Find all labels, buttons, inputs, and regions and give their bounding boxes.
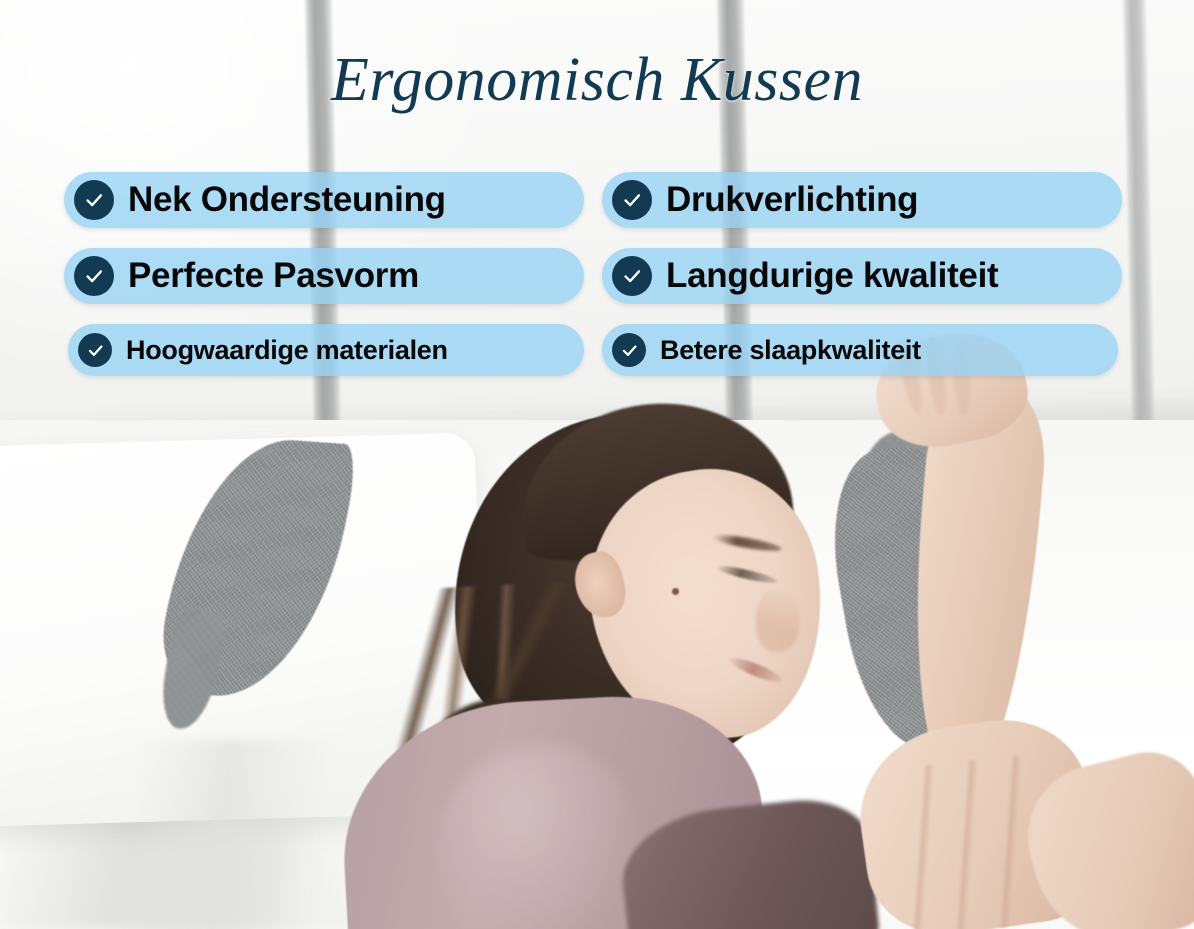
feature-badge-label: Hoogwaardige materialen: [126, 335, 448, 366]
check-circle-icon: [612, 256, 652, 296]
feature-badge-label: Langdurige kwaliteit: [666, 256, 998, 296]
feature-badge-perfect-fit[interactable]: Perfecte Pasvorm: [64, 248, 584, 304]
feature-badge-better-sleep-quality[interactable]: Betere slaapkwaliteit: [602, 324, 1118, 376]
check-circle-icon: [78, 333, 112, 367]
feature-badge-pressure-relief[interactable]: Drukverlichting: [602, 172, 1122, 228]
text-overlay: Ergonomisch Kussen Nek Ondersteuning: [0, 0, 1194, 929]
feature-badge-neck-support[interactable]: Nek Ondersteuning: [64, 172, 584, 228]
feature-badge-label: Betere slaapkwaliteit: [660, 335, 921, 366]
feature-row-3: Hoogwaardige materialen Betere slaapkwal…: [68, 324, 1130, 376]
check-circle-icon: [74, 180, 114, 220]
product-feature-banner: Ergonomisch Kussen Nek Ondersteuning: [0, 0, 1194, 929]
feature-row-2: Perfecte Pasvorm Langdurige kwaliteit: [64, 248, 1130, 304]
feature-row-1: Nek Ondersteuning Drukverlichting: [64, 172, 1130, 228]
page-title: Ergonomisch Kussen: [0, 48, 1194, 113]
feature-badge-grid: Nek Ondersteuning Drukverlichting: [64, 172, 1130, 396]
check-circle-icon: [612, 333, 646, 367]
feature-badge-long-lasting-quality[interactable]: Langdurige kwaliteit: [602, 248, 1122, 304]
feature-badge-label: Perfecte Pasvorm: [128, 256, 419, 296]
feature-badge-label: Nek Ondersteuning: [128, 180, 446, 220]
check-circle-icon: [612, 180, 652, 220]
check-circle-icon: [74, 256, 114, 296]
feature-badge-label: Drukverlichting: [666, 180, 918, 220]
feature-badge-high-quality-materials[interactable]: Hoogwaardige materialen: [68, 324, 584, 376]
